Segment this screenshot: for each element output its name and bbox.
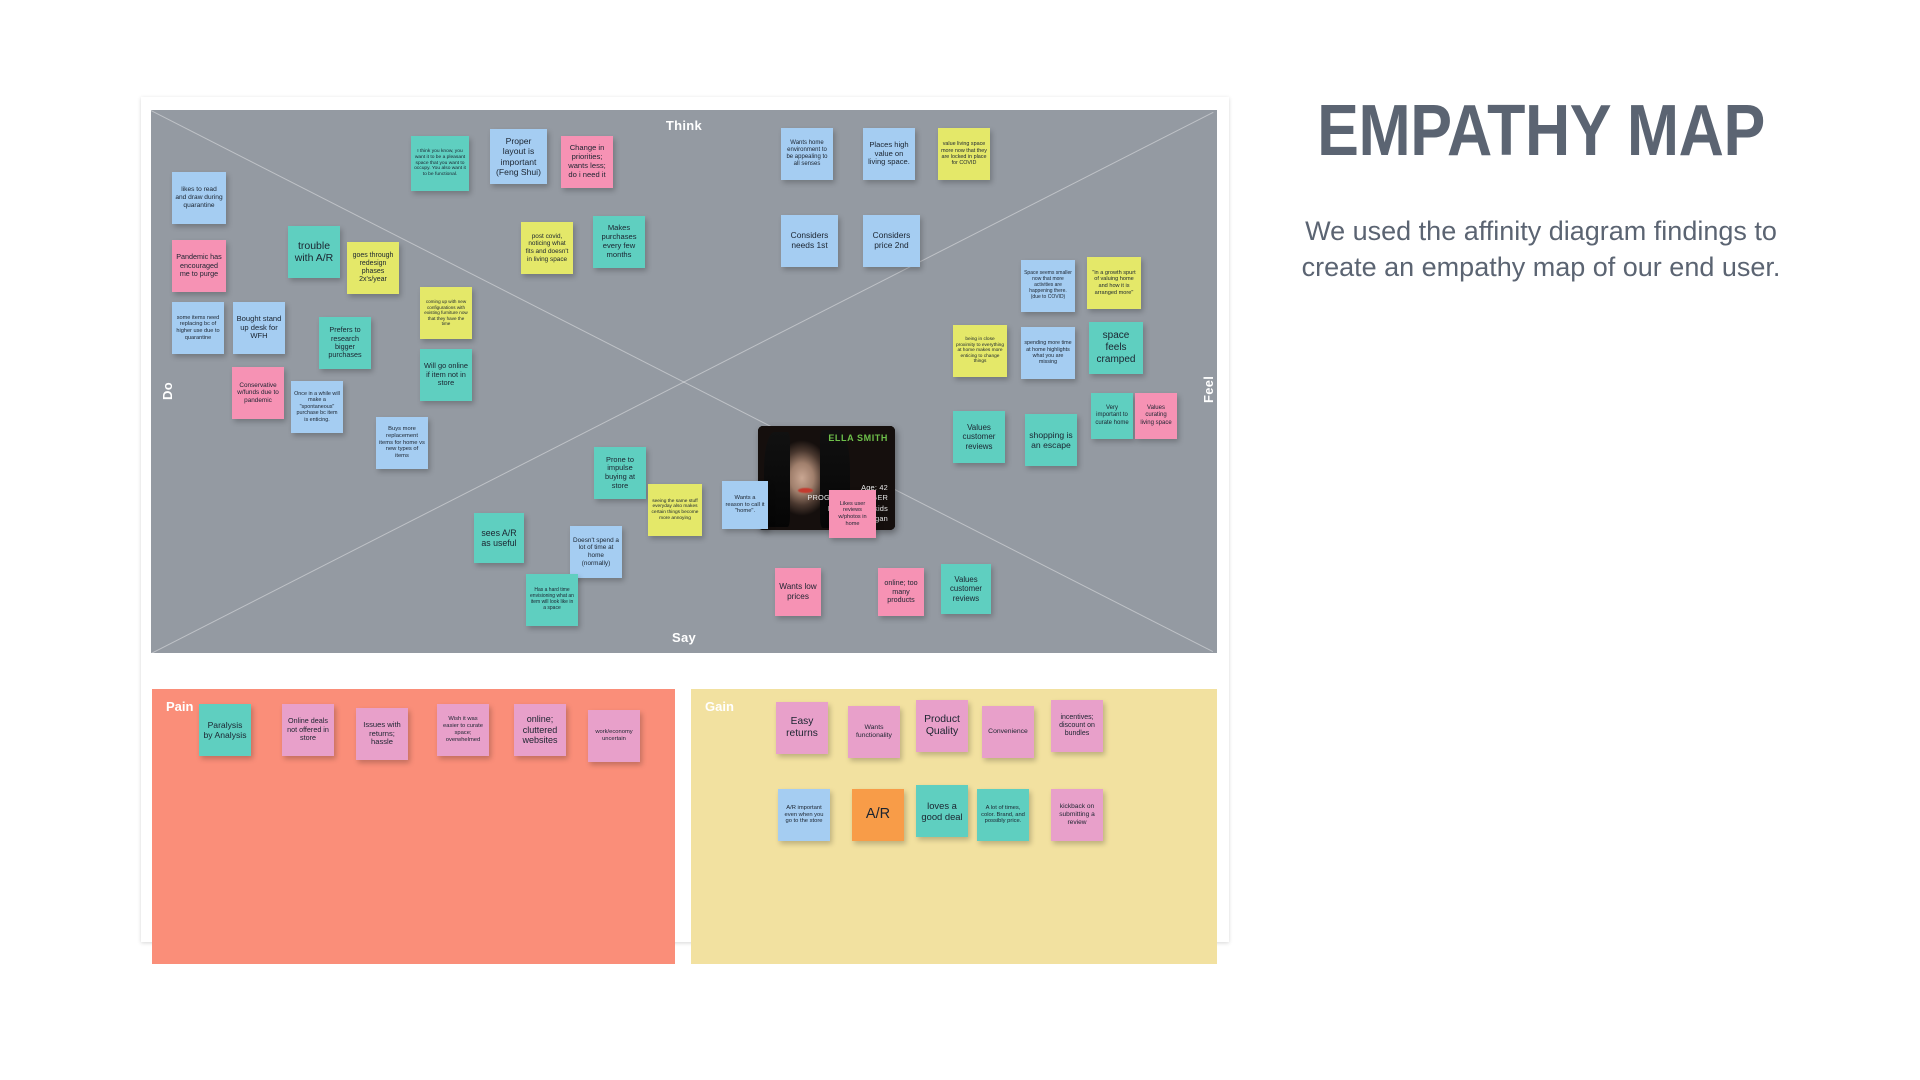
note-text: work/economy uncertain [591,729,637,743]
note-text: trouble with A/R [291,240,337,265]
board-note[interactable]: Values customer reviews [953,411,1005,463]
gain-note[interactable]: A/R [852,789,904,841]
note-text: incentives; discount on bundles [1054,714,1100,739]
board-note[interactable]: Change in priorities; wants less; do i n… [561,136,613,188]
quadrant-label-feel: Feel [1201,376,1216,403]
quadrant-label-think: Think [151,118,1217,133]
note-text: I think you know, you want it to be a pl… [414,149,466,178]
board-note[interactable]: Considers price 2nd [863,215,920,267]
page-subtitle: We used the affinity diagram findings to… [1281,167,1801,285]
note-text: post covid, noticing what fits and doesn… [524,233,570,263]
note-text: value living space more now that they ar… [941,141,987,167]
note-text: Prefers to research bigger purchases [322,326,368,360]
gain-note[interactable]: Convenience [982,706,1034,758]
pain-note[interactable]: work/economy uncertain [588,710,640,762]
board-note[interactable]: value living space more now that they ar… [938,128,990,180]
note-text: Prone to impulse buying at store [597,456,643,491]
note-text: Wants low prices [778,582,818,601]
page-title: EMPATHY MAP [1315,96,1767,167]
board-note[interactable]: I think you know, you want it to be a pl… [411,136,469,191]
gain-label: Gain [705,699,734,714]
note-text: Convenience [985,728,1031,736]
slide-root: Think Say Do Feel ELLA SMITH Age: 42 PRO… [0,0,1920,1080]
board-note[interactable]: Values curating living space [1135,393,1177,439]
title-block: EMPATHY MAP We used the affinity diagram… [1281,96,1801,285]
board-note[interactable]: shopping is an escape [1025,414,1077,466]
note-text: coming up with new configurations with e… [423,299,469,326]
note-text: Considers needs 1st [784,231,835,251]
note-text: Wish it was easier to curate space; over… [440,716,486,743]
note-text: Bought stand up desk for WFH [236,315,282,342]
board-note[interactable]: goes through redesign phases 2x's/year [347,242,399,294]
pain-note[interactable]: Wish it was easier to curate space; over… [437,704,489,756]
board-note[interactable]: Very important to curate home [1091,393,1133,439]
board-note[interactable]: being in close proximity to everything a… [953,325,1007,377]
board-note[interactable]: Has a hard time envisioning what an item… [526,574,578,626]
board-note[interactable]: online; too many products [878,568,924,616]
note-text: Considers price 2nd [866,231,917,251]
board-note[interactable]: Will go online if item not in store [420,349,472,401]
gain-note[interactable]: Easy returns [776,702,828,754]
note-text: A/R important even when you go to the st… [781,805,827,825]
quadrant-label-say: Say [151,630,1217,645]
board-note[interactable]: likes to read and draw during quarantine [172,172,226,224]
board-note[interactable]: some items need replacing bc of higher u… [172,302,224,354]
board-note[interactable]: coming up with new configurations with e… [420,287,472,339]
note-text: A lot of times, color. Brand, and possib… [980,805,1026,825]
note-text: Doesn't spend a lot of time at home (nor… [573,537,619,567]
board-note[interactable]: Doesn't spend a lot of time at home (nor… [570,526,622,578]
note-text: Issues with returns; hassle [359,721,405,748]
board-note[interactable]: Places high value on living space. [863,128,915,180]
note-text: Wants functionality [851,724,897,740]
note-text: kickback on submitting a review [1054,803,1100,826]
board-note[interactable]: Once in a while will make a "spontaneous… [291,381,343,433]
note-text: Space seems smaller now that more activi… [1024,271,1072,300]
board-note[interactable]: Conservative w/funds due to pandemic [232,367,284,419]
note-text: sees A/R as useful [477,528,521,549]
note-text: online; too many products [881,579,921,604]
note-text: Places high value on living space. [866,141,912,168]
gain-note[interactable]: kickback on submitting a review [1051,789,1103,841]
note-text: likes to read and draw during quarantine [175,186,223,209]
board-note[interactable]: Prefers to research bigger purchases [319,317,371,369]
pain-note[interactable]: Issues with returns; hassle [356,708,408,760]
note-text: Conservative w/funds due to pandemic [235,382,281,405]
board-note[interactable]: Likes user reviews w/photos in home [829,490,876,538]
note-text: Easy returns [779,716,825,740]
pain-label: Pain [166,699,193,714]
board-note[interactable]: Pandemic has encouraged me to purge [172,240,226,292]
board-note[interactable]: Considers needs 1st [781,215,838,267]
board-note[interactable]: Prone to impulse buying at store [594,447,646,499]
board-note[interactable]: trouble with A/R [288,226,340,278]
note-text: Product Quality [919,714,965,739]
gain-note[interactable]: Product Quality [916,700,968,752]
note-text: goes through redesign phases 2x's/year [350,252,396,285]
board-note[interactable]: Bought stand up desk for WFH [233,302,285,354]
board-note[interactable]: sees A/R as useful [474,513,524,563]
note-text: Wants a reason to call it "home". [725,495,765,515]
note-text: seeing the same stuff everyday also make… [651,499,699,522]
note-text: spending more time at home highlights wh… [1024,340,1072,366]
note-text: A/R [855,806,901,823]
gain-note[interactable]: incentives; discount on bundles [1051,700,1103,752]
pain-note[interactable]: Paralysis by Analysis [199,704,251,756]
note-text: Values customer reviews [956,423,1002,451]
note-text: Has a hard time envisioning what an item… [529,588,575,612]
quadrant-label-do: Do [160,382,175,400]
note-text: shopping is an escape [1028,430,1074,450]
board-note[interactable]: Makes purchases every few months [593,216,645,268]
board-note[interactable]: Proper layout is important (Feng Shui) [490,129,547,184]
note-text: Will go online if item not in store [423,362,469,388]
note-text: Online deals not offered in store [285,717,331,742]
note-text: Likes user reviews w/photos in home [832,501,873,527]
board-note[interactable]: "in a growth spurt of valuing home and h… [1087,257,1141,309]
board-note[interactable]: Wants a reason to call it "home". [722,481,768,529]
board-note[interactable]: spending more time at home highlights wh… [1021,327,1075,379]
note-text: online; cluttered websites [517,714,563,746]
note-text: Paralysis by Analysis [202,720,248,740]
note-text: Pandemic has encouraged me to purge [175,253,223,278]
note-text: "in a growth spurt of valuing home and h… [1090,270,1138,296]
board-note[interactable]: seeing the same stuff everyday also make… [648,484,702,536]
note-text: being in close proximity to everything a… [956,337,1004,365]
note-text: Very important to curate home [1094,405,1130,426]
board-note[interactable]: Buys more replacement items for home vs … [376,417,428,469]
board-note[interactable]: Wants low prices [775,568,821,616]
note-text: Proper layout is important (Feng Shui) [493,136,544,177]
pain-note[interactable]: online; cluttered websites [514,704,566,756]
note-text: Once in a while will make a "spontaneous… [294,391,340,423]
note-text: some items need replacing bc of higher u… [175,315,221,341]
note-text: Values curating living space [1138,405,1174,426]
note-text: Wants home environment to be appealing t… [784,140,830,168]
gain-note[interactable]: loves a good deal [916,785,968,837]
board-note[interactable]: Wants home environment to be appealing t… [781,128,833,180]
gain-note[interactable]: A/R important even when you go to the st… [778,789,830,841]
board-note[interactable]: Values customer reviews [941,564,991,614]
note-text: Change in priorities; wants less; do i n… [564,144,610,180]
board-note[interactable]: Space seems smaller now that more activi… [1021,260,1075,312]
pain-note[interactable]: Online deals not offered in store [282,704,334,756]
board-note[interactable]: space feels cramped [1089,322,1143,374]
note-text: Values customer reviews [944,575,988,603]
gain-note[interactable]: A lot of times, color. Brand, and possib… [977,789,1029,841]
gain-note[interactable]: Wants functionality [848,706,900,758]
board-note[interactable]: post covid, noticing what fits and doesn… [521,222,573,274]
note-text: Makes purchases every few months [596,224,642,260]
note-text: space feels cramped [1092,330,1140,365]
note-text: loves a good deal [919,800,965,822]
note-text: Buys more replacement items for home vs … [379,426,425,460]
persona-name: ELLA SMITH [828,433,888,443]
